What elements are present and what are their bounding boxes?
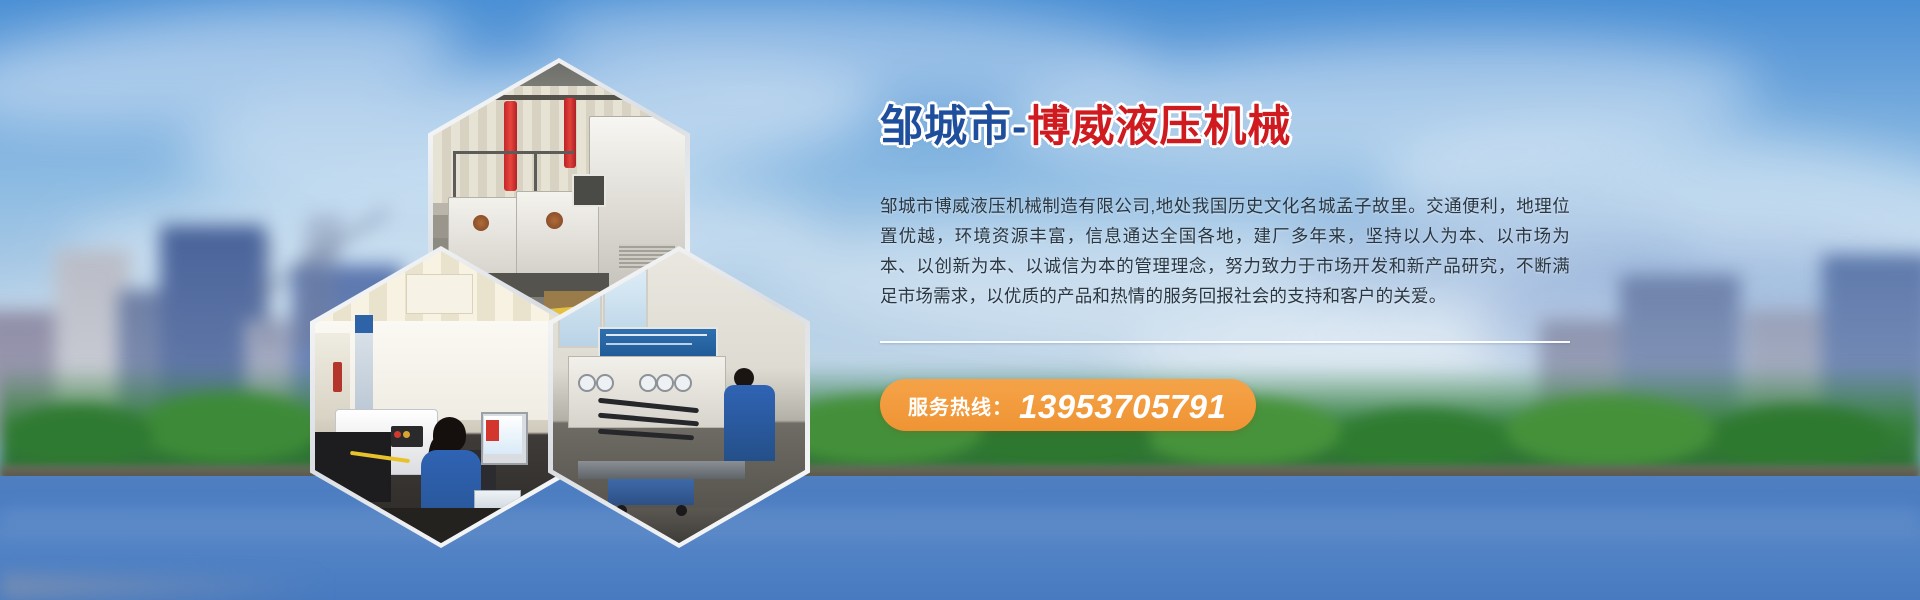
water-foreground-shade <box>0 574 330 600</box>
section-divider <box>880 341 1570 343</box>
hotline-label: 服务热线： <box>908 391 1013 420</box>
red-pillar <box>504 101 517 192</box>
measuring-column-top <box>355 315 373 333</box>
hotline-button[interactable]: 服务热线： 13953705791 <box>880 379 1256 431</box>
pressure-gauge <box>578 374 596 392</box>
guard-rail-post <box>453 151 456 204</box>
work-table <box>578 461 744 479</box>
signboard-text-line <box>606 334 707 336</box>
signboard-text-line <box>606 343 692 345</box>
pressure-gauge <box>656 374 674 392</box>
water-reflection <box>0 508 1920 542</box>
hotline-number: 13953705791 <box>1019 390 1226 423</box>
company-banner: 邹城市-博威液压机械 邹城市博威液压机械制造有限公司,地处我国历史文化名城孟子故… <box>0 0 1920 600</box>
blue-trolley <box>608 479 694 505</box>
operator-head <box>433 417 466 452</box>
overhead-beam <box>433 95 685 100</box>
guard-rail <box>453 151 574 154</box>
worker-body <box>724 385 774 461</box>
indicator-light <box>403 431 410 438</box>
control-panel <box>572 174 606 207</box>
screen-chart <box>486 420 499 440</box>
wall-notice-board <box>406 274 474 314</box>
page-title: 邹城市-博威液压机械 <box>880 104 1580 151</box>
title-locality: 邹城市- <box>880 103 1027 151</box>
pressure-gauge <box>639 374 657 392</box>
lab-wall <box>315 321 567 420</box>
fire-extinguisher <box>333 362 342 392</box>
company-description: 邹城市博威液压机械制造有限公司,地处我国历史文化名城孟子故里。交通便利，地理位置… <box>880 191 1570 311</box>
title-brand: 博威液压机械 <box>1027 103 1291 151</box>
pressure-gauge <box>596 374 614 392</box>
hydraulic-hose <box>598 429 694 441</box>
emergency-stop-button <box>394 431 401 438</box>
red-pillar <box>564 98 576 168</box>
pressure-gauge <box>674 374 692 392</box>
hexagon-photo-gallery <box>310 58 710 448</box>
banner-content: 邹城市-博威液压机械 邹城市博威液压机械制造有限公司,地处我国历史文化名城孟子故… <box>880 104 1580 431</box>
